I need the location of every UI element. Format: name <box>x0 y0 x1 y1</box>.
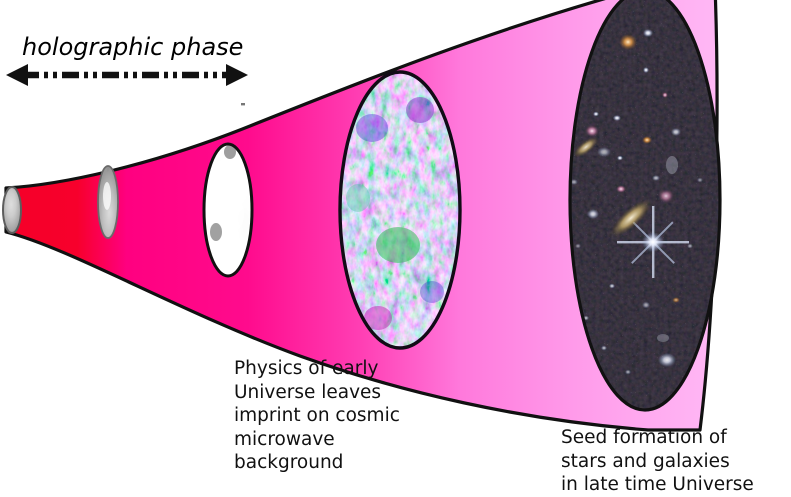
stray-speck <box>241 103 245 105</box>
deep-field-caption: Seed formation of stars and galaxies in … <box>561 426 754 497</box>
holographic-phase-arrow <box>6 64 248 86</box>
cmb-caption: Physics of early Universe leaves imprint… <box>234 357 400 475</box>
diagram-canvas: holographic phase Physics of early Unive… <box>0 0 791 493</box>
quantum-fluctuation-disk <box>203 143 253 277</box>
holographic-phase-label: holographic phase <box>22 33 243 61</box>
